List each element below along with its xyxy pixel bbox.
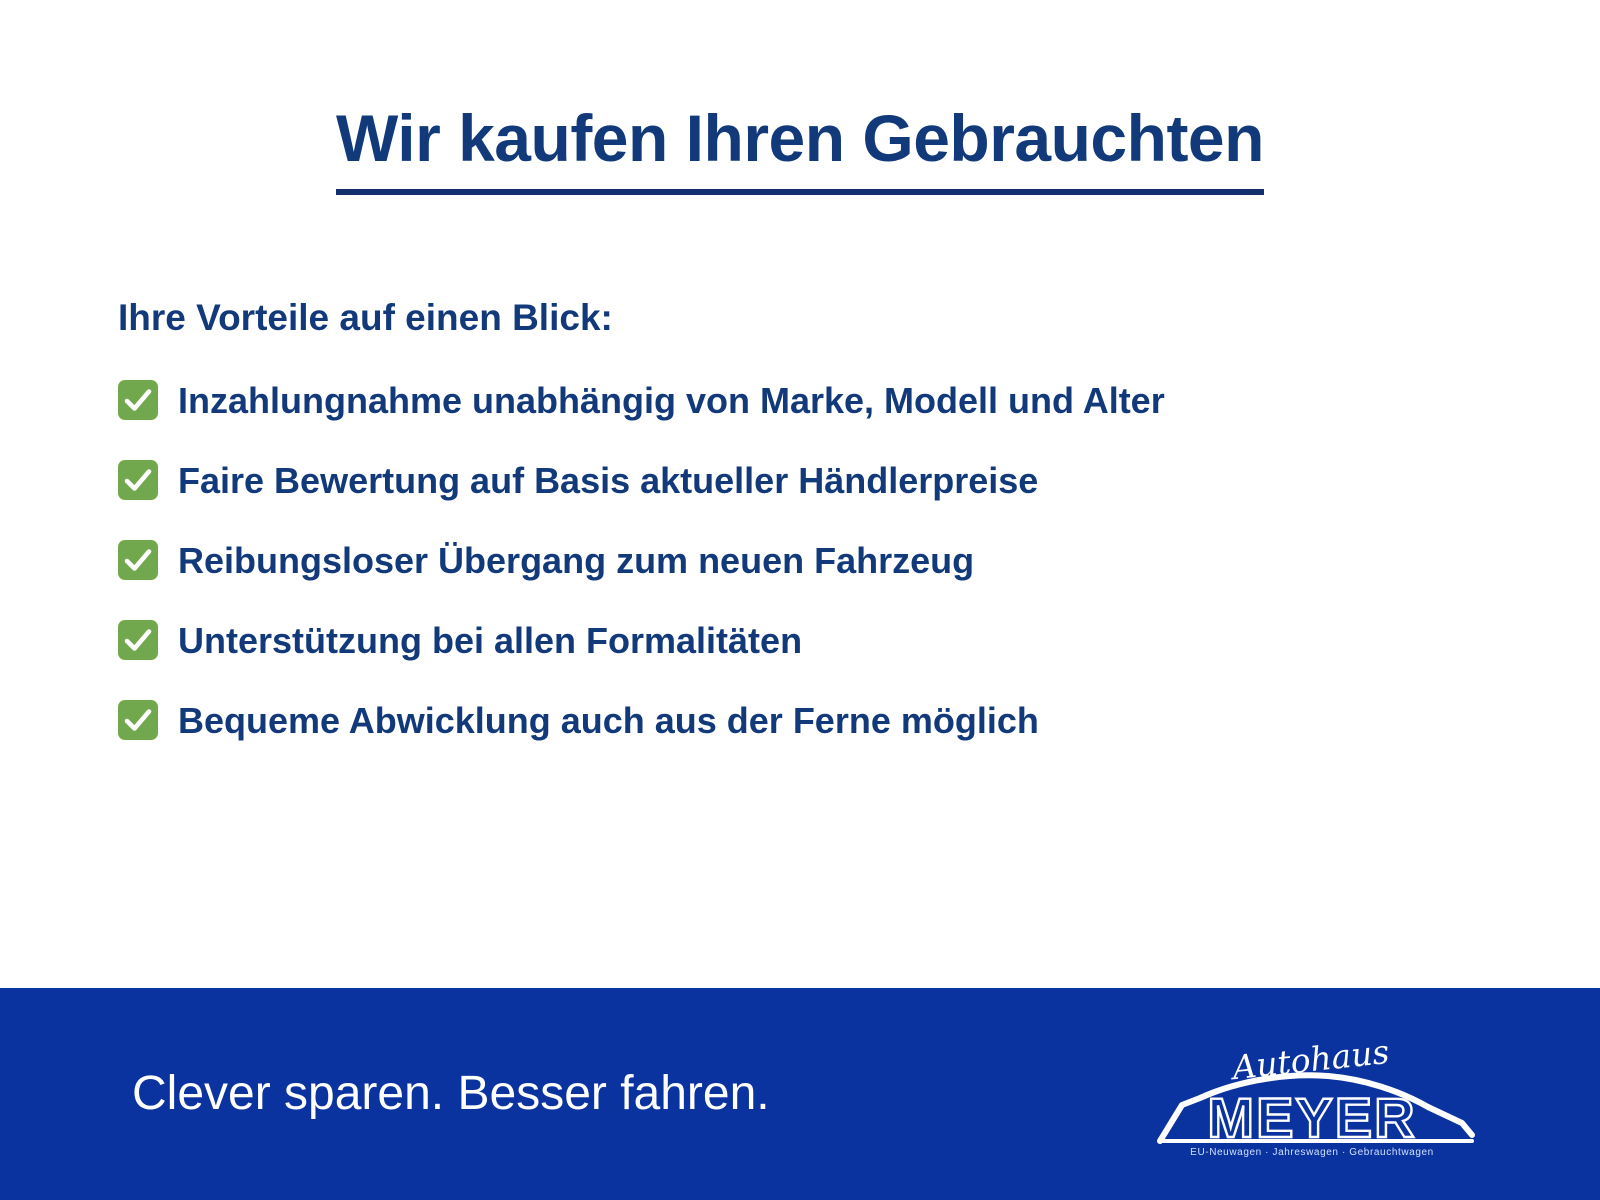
- list-item-label: Inzahlungnahme unabhängig von Marke, Mod…: [178, 379, 1165, 422]
- benefits-section: Ihre Vorteile auf einen Blick: Inzahlung…: [118, 296, 1518, 742]
- promo-poster: Wir kaufen Ihren Gebrauchten Ihre Vortei…: [0, 0, 1600, 1200]
- list-item: Bequeme Abwicklung auch aus der Ferne mö…: [118, 698, 1518, 742]
- list-item: Unterstützung bei allen Formalitäten: [118, 618, 1518, 662]
- logo-wordmark: MEYER: [1207, 1086, 1416, 1149]
- list-item: Reibungsloser Übergang zum neuen Fahrzeu…: [118, 538, 1518, 582]
- list-item-label: Faire Bewertung auf Basis aktueller Händ…: [178, 459, 1038, 502]
- page-title: Wir kaufen Ihren Gebrauchten: [336, 104, 1264, 195]
- checkmark-icon: [118, 700, 158, 740]
- headline-container: Wir kaufen Ihren Gebrauchten: [0, 104, 1600, 195]
- footer-slogan: Clever sparen. Besser fahren.: [132, 1065, 770, 1123]
- logo-tagline: EU-Neuwagen · Jahreswagen · Gebrauchtwag…: [1190, 1147, 1434, 1158]
- list-item-label: Reibungsloser Übergang zum neuen Fahrzeu…: [178, 539, 974, 582]
- list-item: Inzahlungnahme unabhängig von Marke, Mod…: [118, 378, 1518, 422]
- benefits-list: Inzahlungnahme unabhängig von Marke, Mod…: [118, 378, 1518, 742]
- benefits-heading: Ihre Vorteile auf einen Blick:: [118, 296, 1518, 340]
- checkmark-icon: [118, 540, 158, 580]
- list-item: Faire Bewertung auf Basis aktueller Händ…: [118, 458, 1518, 502]
- list-item-label: Bequeme Abwicklung auch aus der Ferne mö…: [178, 699, 1039, 742]
- list-item-label: Unterstützung bei allen Formalitäten: [178, 619, 802, 662]
- checkmark-icon: [118, 460, 158, 500]
- dealership-logo: Autohaus MEYER EU-Neuwagen · Jahreswagen…: [1142, 1019, 1482, 1169]
- logo-script-text: Autohaus: [1228, 1032, 1392, 1088]
- checkmark-icon: [118, 380, 158, 420]
- footer-band: Clever sparen. Besser fahren. Autohaus M…: [0, 988, 1600, 1200]
- checkmark-icon: [118, 620, 158, 660]
